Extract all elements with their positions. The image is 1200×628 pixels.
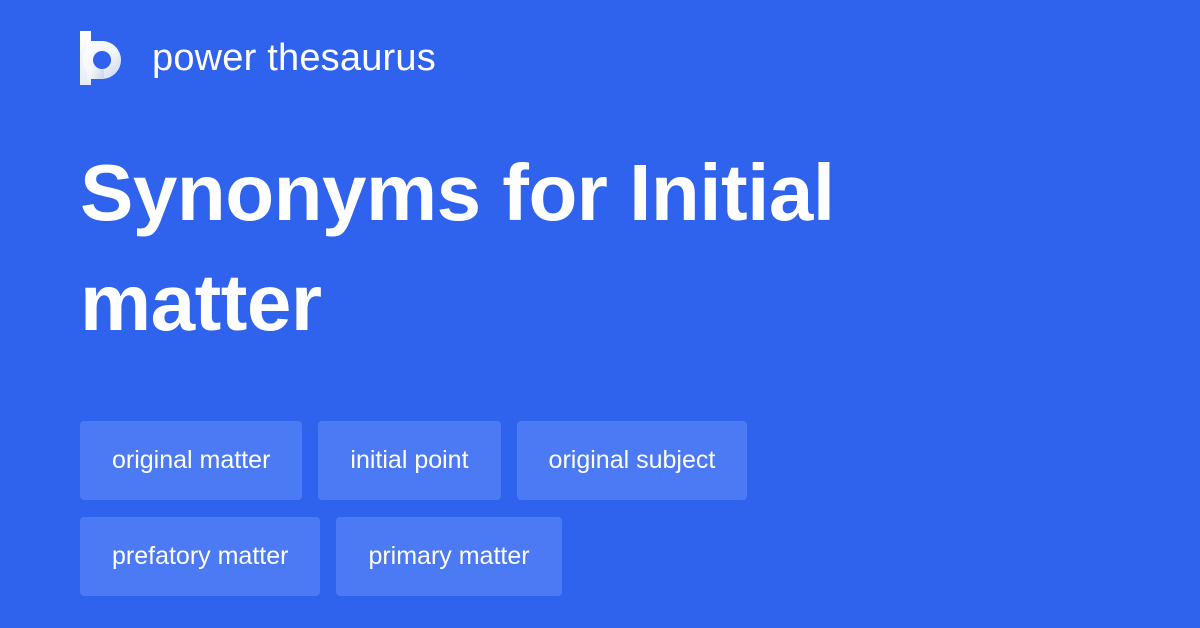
synonym-tag-row: prefatory matter primary matter (80, 517, 1120, 596)
synonym-tag[interactable]: primary matter (336, 517, 561, 596)
synonym-tag-list: original matter initial point original s… (80, 421, 1120, 596)
brand-logo[interactable]: power thesaurus (80, 28, 436, 88)
synonym-tag[interactable]: original subject (517, 421, 748, 500)
power-thesaurus-b-logo-icon (80, 31, 130, 85)
brand-name: power thesaurus (152, 39, 436, 77)
social-card: power thesaurus Synonyms for Initial mat… (0, 0, 1200, 628)
synonym-tag[interactable]: initial point (318, 421, 500, 500)
page-title: Synonyms for Initial matter (80, 138, 1090, 358)
synonym-tag[interactable]: prefatory matter (80, 517, 320, 596)
synonym-tag-row: original matter initial point original s… (80, 421, 1120, 500)
synonym-tag[interactable]: original matter (80, 421, 302, 500)
